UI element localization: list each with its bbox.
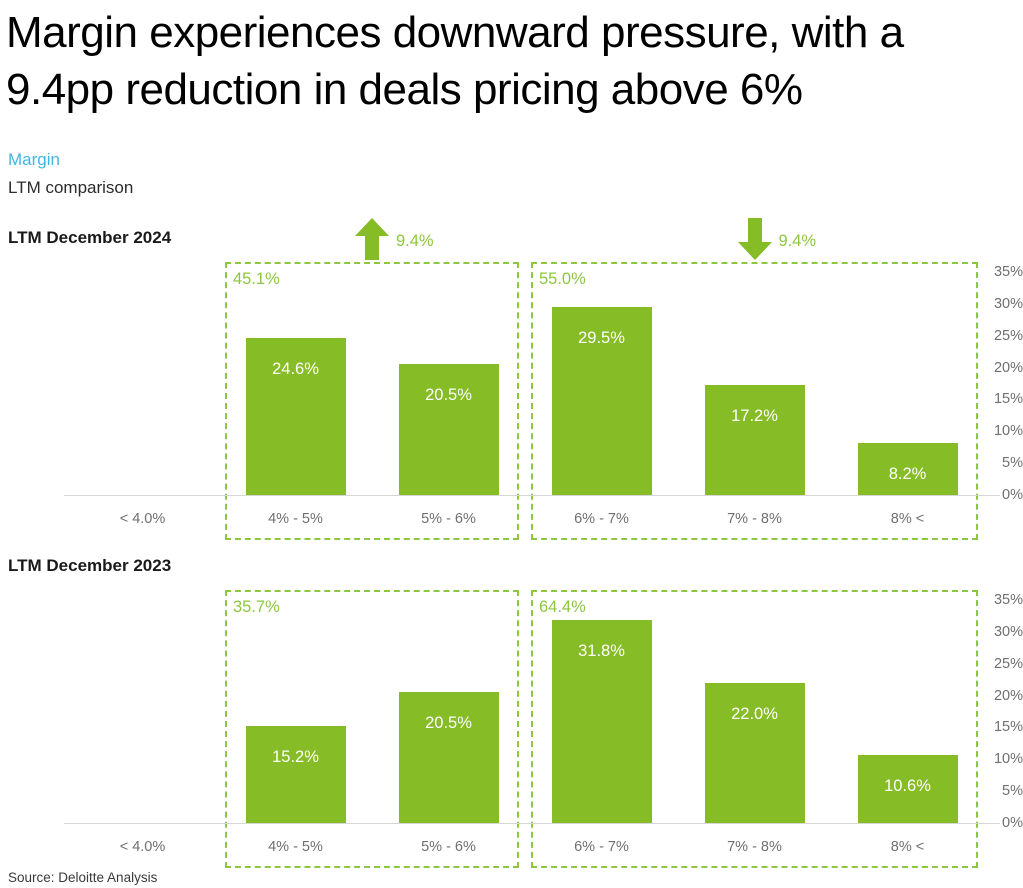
bar-value-label: 31.8%: [552, 642, 652, 661]
bar-value-label: 22.0%: [705, 705, 805, 724]
bar: [246, 726, 346, 823]
group-total-label: 35.7%: [233, 598, 280, 617]
x-axis-category-label: 4% - 5%: [216, 511, 376, 527]
bar: [705, 385, 805, 495]
x-axis-category-label: 6% - 7%: [522, 511, 682, 527]
x-axis-category-label: 8% <: [828, 511, 988, 527]
delta-value-label: 9.4%: [779, 232, 817, 251]
x-axis-category-label: < 4.0%: [63, 839, 223, 855]
chart-page: Margin experiences downward pressure, wi…: [0, 0, 1023, 888]
source-note: Source: Deloitte Analysis: [8, 870, 157, 885]
bar-value-label: 10.6%: [858, 777, 958, 796]
x-axis-category-label: 7% - 8%: [675, 511, 835, 527]
chart-panel-2023: LTM December 2023 35%30%25%20%15%10%5%0%…: [0, 556, 1023, 866]
bar-value-label: 8.2%: [858, 465, 958, 484]
group-total-label: 45.1%: [233, 270, 280, 289]
group-total-label: 55.0%: [539, 270, 586, 289]
x-axis-category-label: 7% - 8%: [675, 839, 835, 855]
x-axis-category-label: 8% <: [828, 839, 988, 855]
bar: [399, 364, 499, 495]
plot-area-2024: 35%30%25%20%15%10%5%0%45.1%55.0%24.6%20.…: [0, 228, 1023, 538]
subkicker-label: LTM comparison: [8, 178, 133, 198]
bar-value-label: 20.5%: [399, 386, 499, 405]
bar-value-label: 24.6%: [246, 360, 346, 379]
chart-panel-2024: LTM December 2024 35%30%25%20%15%10%5%0%…: [0, 228, 1023, 538]
axis-baseline: [64, 823, 1000, 824]
arrow-down-icon: [738, 218, 772, 260]
axis-baseline: [64, 495, 1000, 496]
bar-value-label: 20.5%: [399, 714, 499, 733]
x-axis-category-label: 5% - 6%: [369, 511, 529, 527]
kicker-label: Margin: [8, 150, 60, 170]
x-axis-category-label: < 4.0%: [63, 511, 223, 527]
arrow-up-icon: [355, 218, 389, 260]
bar-value-label: 15.2%: [246, 748, 346, 767]
x-axis-category-label: 5% - 6%: [369, 839, 529, 855]
bar-value-label: 17.2%: [705, 407, 805, 426]
bar-value-label: 29.5%: [552, 329, 652, 348]
delta-value-label: 9.4%: [396, 232, 434, 251]
x-axis-category-label: 6% - 7%: [522, 839, 682, 855]
bar: [399, 692, 499, 823]
x-axis-category-label: 4% - 5%: [216, 839, 376, 855]
group-total-label: 64.4%: [539, 598, 586, 617]
page-title: Margin experiences downward pressure, wi…: [6, 4, 1020, 118]
plot-area-2023: 35%30%25%20%15%10%5%0%35.7%64.4%15.2%20.…: [0, 556, 1023, 866]
